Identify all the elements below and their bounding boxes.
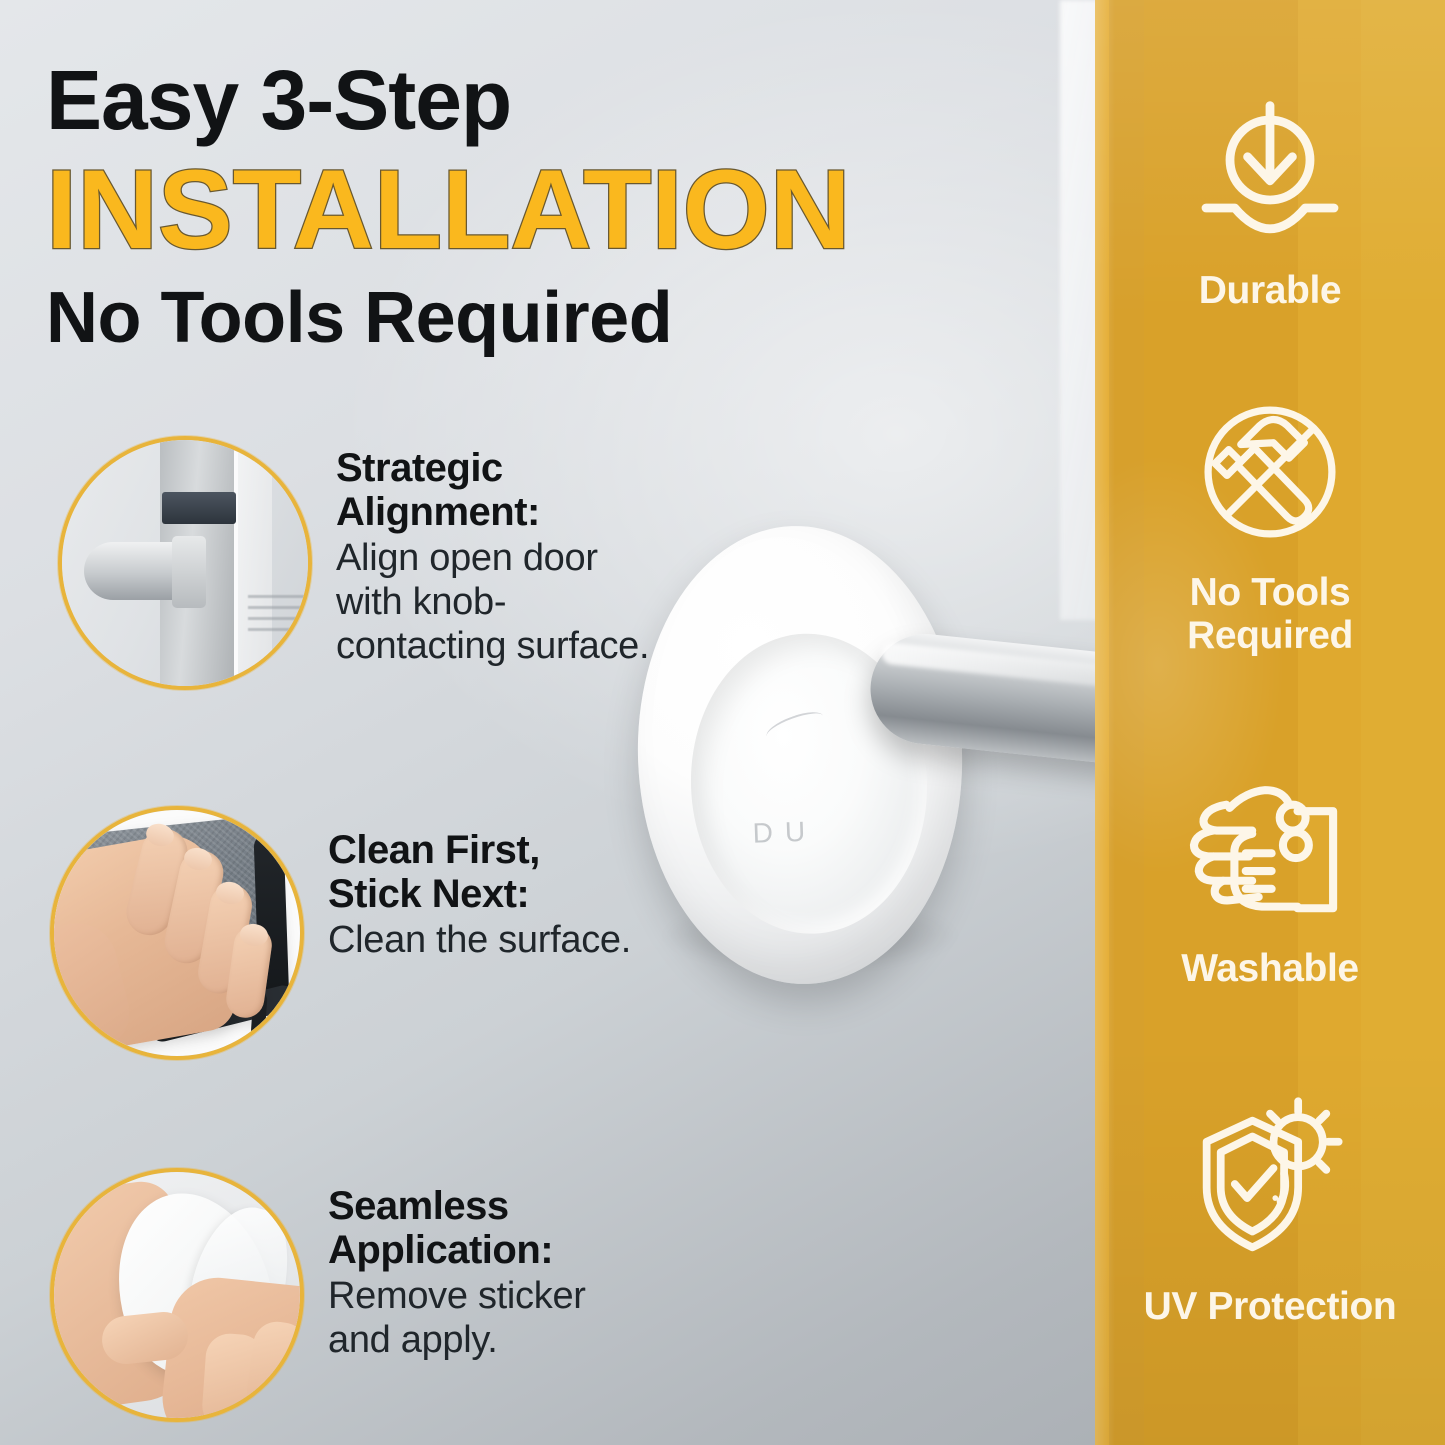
no-hammer-icon bbox=[1095, 386, 1445, 558]
feature-no-tools-label-line2: Required bbox=[1187, 614, 1353, 657]
shield-sun-check-icon bbox=[1095, 1096, 1445, 1272]
feature-washable-label: Washable bbox=[1095, 948, 1445, 991]
step-3: Seamless Application: Remove sticker and… bbox=[50, 1168, 658, 1422]
step-1-thumbnail bbox=[58, 436, 312, 690]
product-embossed-text: DU bbox=[752, 815, 818, 849]
feature-uv-protection: UV Protection bbox=[1095, 1096, 1445, 1329]
door-lever-alignment-photo bbox=[62, 440, 308, 686]
step-1-title-line1: Strategic bbox=[336, 446, 666, 490]
headline-line-2-installation: INSTALLATION bbox=[46, 154, 1046, 266]
step-2-text: Clean First, Stick Next: Clean the surfa… bbox=[328, 806, 658, 962]
step-2: Clean First, Stick Next: Clean the surfa… bbox=[50, 806, 658, 1060]
feature-uv-protection-label: UV Protection bbox=[1095, 1286, 1445, 1329]
step-1: Strategic Alignment: Align open door wit… bbox=[58, 436, 666, 690]
step-3-title-line2: Application: bbox=[328, 1228, 658, 1272]
feature-durable-label: Durable bbox=[1095, 270, 1445, 313]
feature-washable: Washable bbox=[1095, 766, 1445, 991]
step-1-text: Strategic Alignment: Align open door wit… bbox=[336, 436, 666, 668]
feature-no-tools-label: No Tools Required bbox=[1095, 572, 1445, 658]
step-3-thumbnail bbox=[50, 1168, 304, 1422]
infographic-canvas: Easy 3-Step INSTALLATION No Tools Requir… bbox=[0, 0, 1445, 1445]
hand-wiping-cloth-photo bbox=[54, 810, 300, 1056]
product-photo: DU bbox=[620, 480, 1140, 1040]
step-2-title-line2: Stick Next: bbox=[328, 872, 658, 916]
feature-durable: Durable bbox=[1095, 96, 1445, 313]
feature-no-tools-required: No Tools Required bbox=[1095, 386, 1445, 658]
step-3-title-line1: Seamless bbox=[328, 1184, 658, 1228]
washing-hands-icon bbox=[1095, 766, 1445, 934]
headline-line-1: Easy 3-Step bbox=[46, 58, 1046, 142]
step-3-body: Remove sticker and apply. bbox=[328, 1274, 658, 1362]
peeling-sticker-photo bbox=[54, 1172, 300, 1418]
step-3-text: Seamless Application: Remove sticker and… bbox=[328, 1168, 658, 1362]
headline-line-3: No Tools Required bbox=[46, 282, 1046, 354]
impact-absorb-arrow-icon bbox=[1095, 96, 1445, 256]
step-2-title-line1: Clean First, bbox=[328, 828, 658, 872]
step-2-body: Clean the surface. bbox=[328, 918, 658, 962]
feature-no-tools-label-line1: No Tools bbox=[1190, 571, 1351, 614]
headline-block: Easy 3-Step INSTALLATION No Tools Requir… bbox=[46, 58, 1046, 354]
step-1-title-line2: Alignment: bbox=[336, 490, 666, 534]
step-1-body: Align open door with knob-contacting sur… bbox=[336, 536, 666, 668]
features-panel: Durable No Tools Required bbox=[1095, 0, 1445, 1445]
step-2-thumbnail bbox=[50, 806, 304, 1060]
